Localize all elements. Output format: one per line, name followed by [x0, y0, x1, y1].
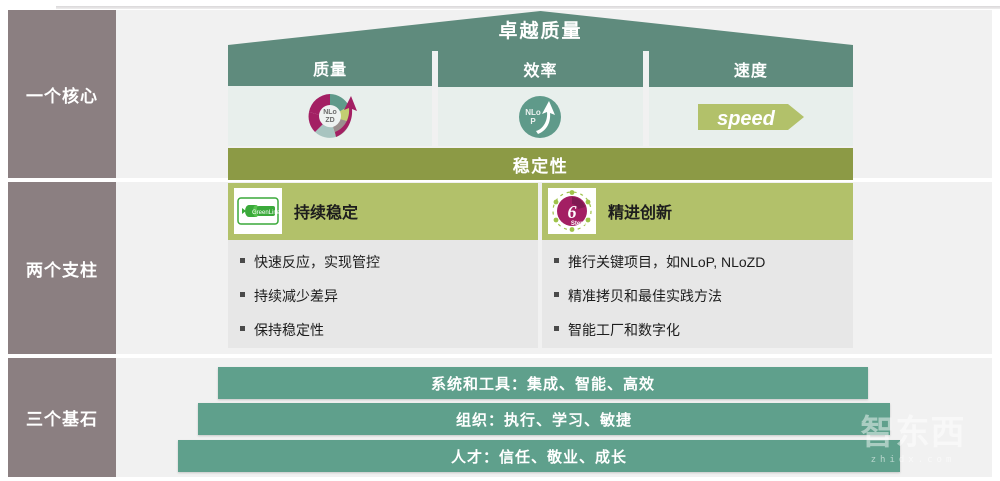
list-item: 智能工厂和数字化 — [554, 320, 853, 340]
bullet-dot-icon — [554, 292, 559, 297]
core-column-speed-header: 速度 — [649, 50, 853, 87]
slide-canvas: 一个核心 两个支柱 三个基石 卓越质量 质量 NLo — [0, 0, 1000, 481]
bullet-dot-icon — [240, 326, 245, 331]
pillar-continuous-stability-title: 持续稳定 — [294, 199, 358, 223]
stability-bar[interactable]: 稳定性 — [228, 148, 853, 180]
pillar-continuous-innovation-bullets: 推行关键项目，如NLoP, NLoZD 精准拷贝和最佳实践方法 智能工厂和数字化 — [542, 238, 853, 348]
row-label-core: 一个核心 — [8, 10, 116, 178]
bullet-dot-icon — [240, 292, 245, 297]
row-label-foundations: 三个基石 — [8, 358, 116, 477]
nlo-p-arrow-icon: NLo P — [512, 89, 568, 145]
foundation-bar-systems-label: 系统和工具：集成、智能、高效 — [431, 373, 655, 394]
nlo-zd-cycle-icon: NLo ZD — [295, 86, 365, 146]
svg-text:P: P — [531, 117, 537, 126]
list-item: 精准拷贝和最佳实践方法 — [554, 286, 853, 306]
pillar-continuous-stability: GreenLine 持续稳定 快速反应，实现管控 持续减少差异 保持稳定性 — [228, 183, 538, 348]
core-column-speed[interactable]: 速度 speed — [649, 50, 853, 146]
list-item-text: 快速反应，实现管控 — [254, 252, 380, 272]
row-label-pillars: 两个支柱 — [8, 182, 116, 354]
pillar-continuous-innovation-header[interactable]: 6 Steps 精进创新 — [542, 183, 853, 238]
svg-text:speed: speed — [717, 108, 776, 130]
row-label-foundations-text: 三个基石 — [26, 405, 98, 430]
list-item-text: 保持稳定性 — [254, 320, 324, 340]
foundation-bar-talent[interactable]: 人才：信任、敬业、成长 — [178, 440, 900, 472]
list-item: 推行关键项目，如NLoP, NLoZD — [554, 252, 853, 272]
svg-text:NLo: NLo — [526, 108, 542, 117]
foundation-bar-organization[interactable]: 组织：执行、学习、敏捷 — [198, 403, 890, 435]
core-column-quality[interactable]: 质量 NLo ZD — [228, 50, 432, 146]
list-item-text: 推行关键项目，如NLoP, NLoZD — [568, 252, 765, 272]
speed-badge-icon: speed — [696, 100, 806, 134]
core-column-efficiency-body: NLo P — [438, 87, 642, 146]
row-label-core-text: 一个核心 — [26, 82, 98, 107]
core-column-efficiency-header: 效率 — [438, 50, 642, 87]
foundation-bar-systems[interactable]: 系统和工具：集成、智能、高效 — [218, 367, 868, 399]
greenline-logo-icon: GreenLine — [234, 188, 282, 234]
svg-text:GreenLine: GreenLine — [252, 210, 279, 216]
stability-bar-label: 稳定性 — [513, 152, 569, 177]
core-column-quality-body: NLo ZD — [228, 86, 432, 146]
core-column-speed-body: speed — [649, 87, 853, 146]
foundation-bar-talent-label: 人才：信任、敬业、成长 — [451, 446, 627, 467]
pillar-continuous-innovation-title: 精进创新 — [608, 199, 672, 223]
greenline-logo-glyph: GreenLine — [237, 196, 279, 226]
list-item: 持续减少差异 — [240, 286, 538, 306]
roof-label: 卓越质量 — [228, 16, 853, 43]
frame-top-edge — [56, 6, 1000, 9]
list-item-text: 持续减少差异 — [254, 286, 338, 306]
pillar-continuous-stability-bullets: 快速反应，实现管控 持续减少差异 保持稳定性 — [228, 238, 538, 348]
core-column-efficiency[interactable]: 效率 NLo P — [438, 50, 642, 146]
svg-text:6: 6 — [568, 202, 577, 222]
bullet-dot-icon — [554, 258, 559, 263]
pillar-continuous-innovation: 6 Steps 精进创新 推行关键项目，如NLoP, NLoZD 精准拷贝 — [542, 183, 853, 348]
row-label-pillars-text: 两个支柱 — [26, 256, 98, 281]
core-column-quality-header: 质量 — [228, 50, 432, 86]
svg-text:ZD: ZD — [325, 117, 334, 124]
bullet-dot-icon — [554, 326, 559, 331]
list-item: 快速反应，实现管控 — [240, 252, 538, 272]
svg-text:NLo: NLo — [323, 109, 337, 116]
list-item: 保持稳定性 — [240, 320, 538, 340]
pillar-continuous-stability-header[interactable]: GreenLine 持续稳定 — [228, 183, 538, 238]
foundation-bar-organization-label: 组织：执行、学习、敏捷 — [456, 409, 632, 430]
svg-text:Steps: Steps — [571, 221, 588, 227]
core-columns: 质量 NLo ZD 效率 — [228, 50, 853, 146]
six-steps-logo-icon: 6 Steps — [548, 188, 596, 234]
six-steps-logo-glyph: 6 Steps — [550, 189, 594, 233]
bullet-dot-icon — [240, 258, 245, 263]
list-item-text: 智能工厂和数字化 — [568, 320, 680, 340]
list-item-text: 精准拷贝和最佳实践方法 — [568, 286, 722, 306]
